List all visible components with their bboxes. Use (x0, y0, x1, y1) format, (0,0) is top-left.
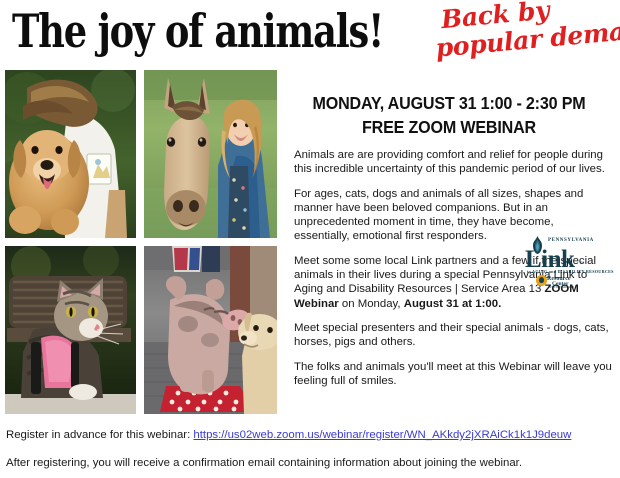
photo-person-with-golden-retriever (5, 70, 136, 238)
badge-flame-icon (536, 275, 547, 286)
photo-pig-and-dog-art (144, 246, 277, 414)
photo-woman-with-horse (144, 70, 277, 238)
event-heading-block: MONDAY, AUGUST 31 1:00 - 2:30 PM FREE ZO… (282, 92, 616, 138)
photo-cat-in-harness-art (5, 246, 136, 414)
after-registering-line: After registering, you will receive a co… (6, 456, 616, 470)
badge-line-3: SERVICE AREA 13 (548, 285, 574, 289)
title-row: The joy of animals! Back by popular dema… (0, 0, 620, 72)
webinar-flyer: The joy of animals! Back by popular dema… (0, 0, 620, 478)
register-line: Register in advance for this webinar: ht… (6, 428, 616, 442)
paragraph-1: Animals are are providing comfort and re… (294, 148, 612, 177)
photo-person-with-golden-retriever-art (5, 70, 136, 238)
pennsylvania-link-logo: PENNSYLVANIA Link ™ to AGING and DISABIL… (522, 236, 598, 288)
event-date-time: MONDAY, AUGUST 31 1:00 - 2:30 PM (295, 92, 602, 114)
paragraph-3-date-time: August 31 at 1:00. (404, 298, 501, 310)
event-type: FREE ZOOM WEBINAR (295, 116, 602, 138)
paragraph-3-part-c: on Monday, (339, 298, 404, 310)
page-title: The joy of animals! (12, 6, 383, 56)
photo-woman-with-horse-art (144, 70, 277, 238)
photo-cat-in-harness (5, 246, 136, 414)
paragraph-5: The folks and animals you'll meet at thi… (294, 360, 612, 389)
photo-grid (5, 70, 277, 428)
register-label: Register in advance for this webinar: (6, 429, 193, 441)
footer: Register in advance for this webinar: ht… (6, 428, 616, 470)
resource-center-badge: Resource Center SERVICE AREA 13 (536, 275, 586, 287)
photo-pig-and-dog (144, 246, 277, 414)
logo-state-name: PENNSYLVANIA (548, 238, 594, 244)
registration-link[interactable]: https://us02web.zoom.us/webinar/register… (193, 429, 571, 441)
logo-tagline: to AGING and DISABILITY RESOURCES (527, 269, 614, 274)
paragraph-4: Meet special presenters and their specia… (294, 321, 612, 350)
logo-trademark: ™ (580, 260, 584, 265)
back-by-popular-demand-banner: Back by popular demand! (432, 0, 620, 72)
